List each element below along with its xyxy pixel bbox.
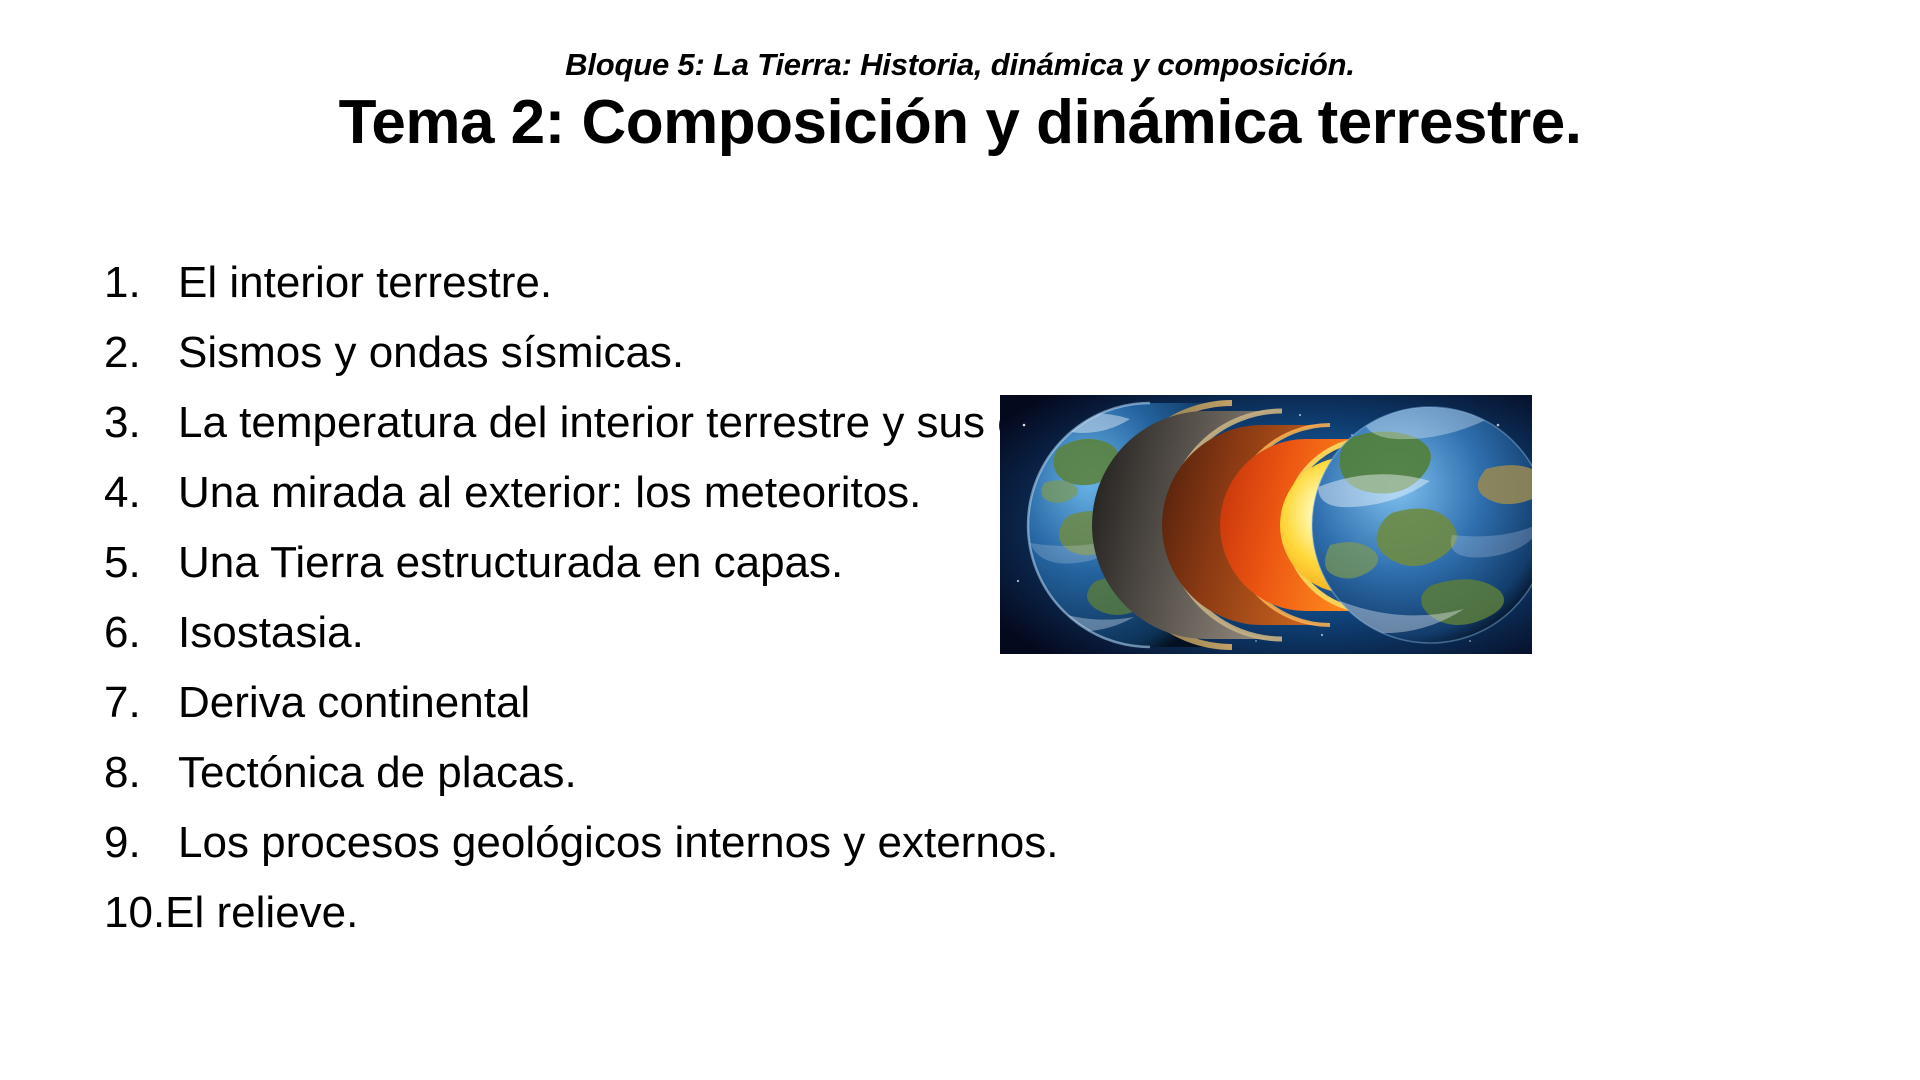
list-item-label: Sismos y ondas sísmicas. bbox=[178, 318, 684, 388]
list-item: 2. Sismos y ondas sísmicas. bbox=[104, 318, 1354, 388]
list-item: 7. Deriva continental bbox=[104, 668, 1354, 738]
list-item: 9. Los procesos geológicos internos y ex… bbox=[104, 808, 1354, 878]
list-item-label: Isostasia. bbox=[178, 598, 364, 668]
list-item-number: 7. bbox=[104, 668, 178, 738]
list-item-label: Deriva continental bbox=[178, 668, 530, 738]
list-item-number: 9. bbox=[104, 808, 178, 878]
list-item-number: 2. bbox=[104, 318, 178, 388]
slide-title: Tema 2: Composición y dinámica terrestre… bbox=[0, 88, 1920, 157]
earth-cutaway-layers-image bbox=[1000, 395, 1532, 654]
earth-globe bbox=[1312, 407, 1532, 643]
list-item-number: 5. bbox=[104, 528, 178, 598]
list-item-label: Una mirada al exterior: los meteoritos. bbox=[178, 458, 921, 528]
list-item-number: 6. bbox=[104, 598, 178, 668]
earth-cutaway-svg bbox=[1000, 395, 1532, 654]
list-item-number: 8. bbox=[104, 738, 178, 808]
list-item: 1. El interior terrestre. bbox=[104, 248, 1354, 318]
list-item: 8. Tectónica de placas. bbox=[104, 738, 1354, 808]
list-item-number: 3. bbox=[104, 388, 178, 458]
list-item-number: 1. bbox=[104, 248, 178, 318]
list-item-label: Los procesos geológicos internos y exter… bbox=[178, 808, 1059, 878]
list-item-number: 4. bbox=[104, 458, 178, 528]
list-item-label: Una Tierra estructurada en capas. bbox=[178, 528, 843, 598]
list-item-label: Tectónica de placas. bbox=[178, 738, 577, 808]
list-item-label: El relieve. bbox=[165, 878, 358, 948]
slide-subtitle: Bloque 5: La Tierra: Historia, dinámica … bbox=[0, 48, 1920, 82]
list-item-label: El interior terrestre. bbox=[178, 248, 552, 318]
list-item-number: 10. bbox=[104, 878, 165, 948]
slide-canvas: Bloque 5: La Tierra: Historia, dinámica … bbox=[0, 0, 1920, 1080]
list-item: 10. El relieve. bbox=[104, 878, 1354, 948]
